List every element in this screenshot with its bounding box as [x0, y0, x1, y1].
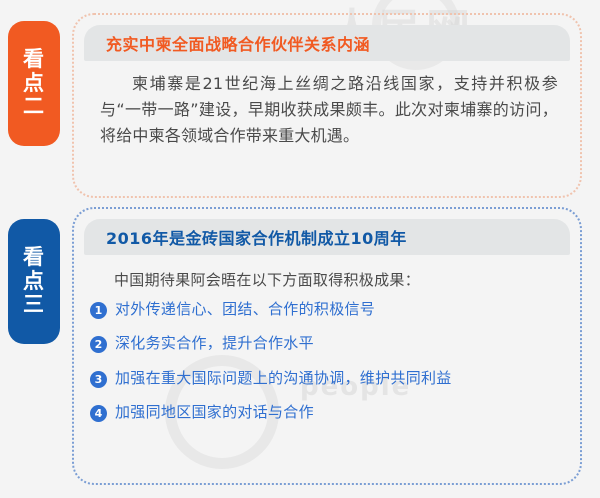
badge-highlight-two: 看 点 二 — [8, 21, 60, 146]
card-title-three: 2016年是金砖国家合作机制成立10周年 — [106, 225, 407, 249]
list-item: 1 对外传递信心、团结、合作的积极信号 — [90, 299, 560, 320]
card-title-bar-two: 充实中柬全面战略合作伙伴关系内涵 — [84, 25, 570, 61]
badge-char-3: 三 — [23, 293, 45, 317]
list-item: 2 深化务实合作，提升合作水平 — [90, 333, 560, 354]
badge-highlight-three: 看 点 三 — [8, 219, 60, 344]
list-number-icon: 1 — [90, 302, 107, 319]
list-item-label: 加强在重大国际问题上的沟通协调，维护共同利益 — [115, 368, 452, 389]
card-highlight-three: 2016年是金砖国家合作机制成立10周年 中国期待果阿会晤在以下方面取得积极成果… — [72, 207, 582, 485]
list-number-icon: 2 — [90, 336, 107, 353]
badge-char-1: 看 — [23, 246, 45, 270]
badge-char-1: 看 — [23, 48, 45, 72]
list-intro-text: 中国期待果阿会晤在以下方面取得积极成果： — [114, 269, 420, 290]
badge-char-2: 点 — [23, 270, 45, 294]
badge-char-3: 二 — [23, 95, 45, 119]
card-highlight-two: 充实中柬全面战略合作伙伴关系内涵 柬埔寨是21世纪海上丝绸之路沿线国家，支持并积… — [72, 13, 582, 198]
list-item: 4 加强同地区国家的对话与合作 — [90, 402, 560, 423]
list-item-label: 加强同地区国家的对话与合作 — [115, 402, 314, 423]
list-item: 3 加强在重大国际问题上的沟通协调，维护共同利益 — [90, 368, 560, 389]
highlight-section-two: 看 点 二 充实中柬全面战略合作伙伴关系内涵 柬埔寨是21世纪海上丝绸之路沿线国… — [0, 13, 600, 198]
badge-char-2: 点 — [23, 72, 45, 96]
list-number-icon: 4 — [90, 405, 107, 422]
expectation-list: 1 对外传递信心、团结、合作的积极信号 2 深化务实合作，提升合作水平 3 加强… — [90, 299, 560, 436]
card-body-two: 柬埔寨是21世纪海上丝绸之路沿线国家，支持并积极参与“一带一路”建设，早期收获成… — [100, 71, 558, 149]
list-item-label: 对外传递信心、团结、合作的积极信号 — [115, 299, 375, 320]
list-number-icon: 3 — [90, 371, 107, 388]
card-title-two: 充实中柬全面战略合作伙伴关系内涵 — [106, 31, 370, 55]
card-title-bar-three: 2016年是金砖国家合作机制成立10周年 — [84, 219, 570, 255]
highlight-section-three: 看 点 三 2016年是金砖国家合作机制成立10周年 中国期待果阿会晤在以下方面… — [0, 207, 600, 492]
list-item-label: 深化务实合作，提升合作水平 — [115, 333, 314, 354]
